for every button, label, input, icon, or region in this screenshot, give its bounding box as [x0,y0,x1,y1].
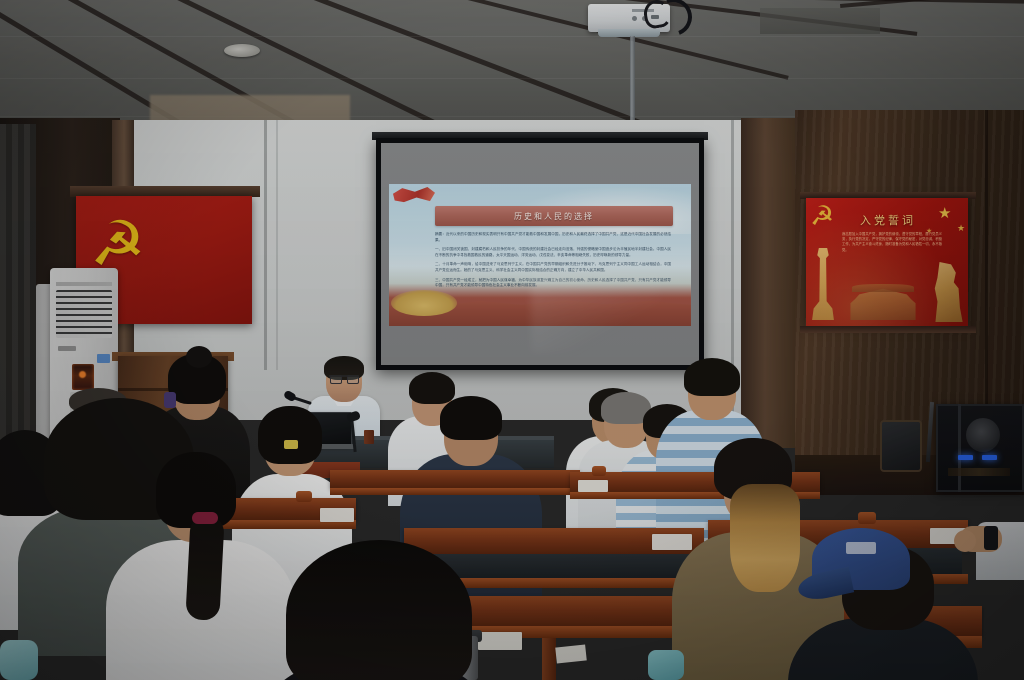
screen-glare [531,273,661,353]
ac-top-trim [56,282,112,286]
av-cabinet-divider [958,404,961,492]
hand [954,530,976,552]
white-booklet[interactable] [555,644,587,663]
audience-dark-hair-front [266,540,486,680]
hair-bun [186,346,212,368]
hair [684,358,740,396]
teal-glove-2 [0,640,38,680]
ceiling-vent [760,8,880,34]
slide-title-text: 历史和人民的选择 [514,211,594,222]
av-led-indicator-2 [982,455,997,460]
hair [440,396,502,440]
banner-rail-bottom [800,326,976,333]
projector-button [632,16,637,21]
seat-number-label [578,480,608,492]
ac-power-indicator [79,371,86,378]
bench-leg [542,638,556,680]
slide-paragraph-2: 一、旧中国闭关锁国、封建腐朽和人民抗争的年代，中国传统的封建社会已经走向没落，列… [435,247,671,258]
slide-red-flag-icon [393,186,435,212]
av-led-indicator [958,455,973,460]
slide-paragraph-1: 摘要：近代以来的中国历史和现实表明只有中国共产党才能救中国和发展中国，历史和人民… [435,232,671,243]
chair-knob [592,466,606,476]
gold-star-icon: ★ [938,206,954,222]
gold-star-icon-2: ★ [957,224,967,234]
smoke-detector [224,44,260,57]
wall-seam-2 [276,120,278,370]
banner-oath-text: 我志愿加入中国共产党，拥护党的纲领，遵守党的章程，履行党员义务，执行党的决定，严… [842,232,942,278]
projection-screen: 历史和人民的选择 摘要：近代以来的中国历史和现实表明只有中国共产党才能救中国和发… [381,143,699,365]
ceiling-projector [588,0,680,40]
slide-paragraph-3: 二、十月革命一声炮响，给中国送来了马克思列宁主义。在中国共产党的早期组织和先进分… [435,262,671,273]
eyeglasses-bridge [329,375,359,385]
banner-title-text: 入党誓词 [845,212,931,228]
av-speaker-box [880,420,922,472]
hair-band [192,512,218,524]
party-emblem-icon: ☭ [810,202,840,232]
projector-lens [598,29,660,37]
chair-knob-2 [296,491,312,502]
ac-air-grille [56,290,112,338]
bench-backrest [330,470,580,488]
bench-row-far[interactable] [330,470,580,510]
av-control-strip[interactable] [948,468,1010,476]
ac-energy-badge [97,354,110,363]
ac-brand-logo [58,346,76,351]
slide-title-banner: 历史和人民的选择 [435,206,673,226]
chair-knob [858,512,876,524]
teal-glove [648,650,684,680]
hair [286,540,472,680]
bench-rail [330,488,580,495]
ponytail [185,515,224,621]
conference-room-photo: ☭ 历史和人民的选择 摘要：近代以来的中国历史和现实表明只有中国共产党才能救中国… [0,0,1024,680]
audience-blue-cap-person [788,528,978,680]
av-fan-grille [966,418,1000,452]
wall-seam [264,120,267,370]
seat-number-label [320,508,354,522]
desk-cup [364,430,374,444]
wristwatch [984,526,998,550]
cap-logo [846,542,876,554]
audience-right-edge-arm [960,500,1024,580]
